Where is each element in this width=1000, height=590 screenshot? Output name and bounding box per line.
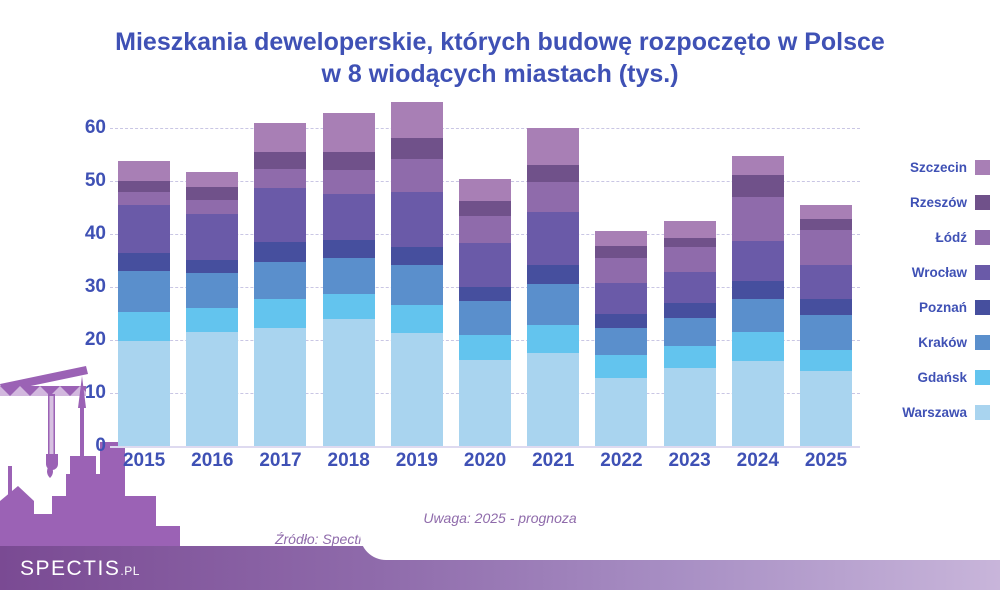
bar-segment-rzeszów-2024[interactable] — [732, 175, 784, 198]
bar-segment-szczecin-2020[interactable] — [459, 179, 511, 201]
axis-baseline — [110, 446, 860, 448]
bar-segment-gdańsk-2022[interactable] — [595, 355, 647, 378]
plot-area — [110, 128, 860, 446]
bar-segment-rzeszów-2018[interactable] — [323, 152, 375, 171]
legend-label-gdańsk: Gdańsk — [917, 370, 967, 385]
legend-label-szczecin: Szczecin — [910, 160, 967, 175]
bar-segment-łódź-2025[interactable] — [800, 230, 852, 264]
legend: SzczecinRzeszówŁódźWrocławPoznańKrakówGd… — [865, 150, 990, 430]
x-tick-2022: 2022 — [587, 450, 655, 472]
bar-segment-rzeszów-2015[interactable] — [118, 181, 170, 192]
bar-segment-szczecin-2022[interactable] — [595, 231, 647, 245]
bar-segment-łódź-2015[interactable] — [118, 192, 170, 205]
bar-segment-wrocław-2017[interactable] — [254, 188, 306, 242]
x-tick-2024: 2024 — [724, 450, 792, 472]
stacked-bar-2020[interactable] — [459, 179, 511, 446]
legend-label-poznań: Poznań — [919, 300, 967, 315]
stacked-bar-2021[interactable] — [527, 128, 579, 446]
legend-item-warszawa[interactable]: Warszawa — [865, 395, 990, 430]
x-tick-2023: 2023 — [656, 450, 724, 472]
bar-segment-wrocław-2018[interactable] — [323, 194, 375, 240]
bar-segment-poznań-2020[interactable] — [459, 287, 511, 301]
bar-slot-2024 — [724, 128, 792, 446]
bar-segment-kraków-2023[interactable] — [664, 318, 716, 347]
bar-segment-poznań-2018[interactable] — [323, 240, 375, 259]
bar-segment-kraków-2019[interactable] — [391, 265, 443, 305]
x-tick-2016: 2016 — [178, 450, 246, 472]
bar-segment-warszawa-2019[interactable] — [391, 333, 443, 446]
title-line-2: w 8 wiodących miastach (tys.) — [0, 58, 1000, 90]
bar-segment-szczecin-2015[interactable] — [118, 161, 170, 181]
bar-segment-gdańsk-2025[interactable] — [800, 350, 852, 371]
bar-slot-2017 — [246, 128, 314, 446]
bar-segment-łódź-2016[interactable] — [186, 200, 238, 215]
y-tick-60: 60 — [60, 117, 106, 139]
bar-segment-szczecin-2023[interactable] — [664, 221, 716, 238]
legend-item-szczecin[interactable]: Szczecin — [865, 150, 990, 185]
legend-swatch-warszawa — [975, 405, 990, 420]
x-tick-2019: 2019 — [383, 450, 451, 472]
bar-segment-warszawa-2017[interactable] — [254, 328, 306, 446]
bar-segment-łódź-2017[interactable] — [254, 169, 306, 188]
legend-swatch-wrocław — [975, 265, 990, 280]
bar-segment-wrocław-2025[interactable] — [800, 265, 852, 299]
legend-label-wrocław: Wrocław — [912, 265, 967, 280]
bar-segment-rzeszów-2017[interactable] — [254, 152, 306, 168]
bar-segment-wrocław-2024[interactable] — [732, 241, 784, 281]
bar-segment-gdańsk-2024[interactable] — [732, 332, 784, 361]
legend-label-kraków: Kraków — [918, 335, 967, 350]
bar-segment-łódź-2020[interactable] — [459, 216, 511, 243]
y-tick-40: 40 — [60, 223, 106, 245]
bar-segment-warszawa-2023[interactable] — [664, 368, 716, 446]
bar-segment-rzeszów-2023[interactable] — [664, 238, 716, 246]
bar-segment-warszawa-2016[interactable] — [186, 332, 238, 446]
bar-segment-wrocław-2015[interactable] — [118, 205, 170, 253]
x-tick-2015: 2015 — [110, 450, 178, 472]
stacked-bar-2016[interactable] — [186, 172, 238, 446]
footer-notch — [360, 534, 1000, 560]
bar-segment-warszawa-2018[interactable] — [323, 319, 375, 446]
bar-segment-szczecin-2019[interactable] — [391, 102, 443, 138]
legend-swatch-łódź — [975, 230, 990, 245]
legend-swatch-szczecin — [975, 160, 990, 175]
bar-slot-2020 — [451, 128, 519, 446]
bar-segment-łódź-2018[interactable] — [323, 170, 375, 194]
bar-slot-2019 — [383, 128, 451, 446]
stacked-bar-2019[interactable] — [391, 102, 443, 446]
bar-slot-2016 — [178, 128, 246, 446]
bar-segment-poznań-2016[interactable] — [186, 260, 238, 273]
bar-segment-wrocław-2023[interactable] — [664, 272, 716, 303]
legend-item-kraków[interactable]: Kraków — [865, 325, 990, 360]
bar-segment-szczecin-2016[interactable] — [186, 172, 238, 188]
bar-segment-poznań-2023[interactable] — [664, 303, 716, 318]
y-tick-50: 50 — [60, 170, 106, 192]
bar-segment-łódź-2019[interactable] — [391, 159, 443, 191]
stacked-bar-2017[interactable] — [254, 123, 306, 446]
bar-segment-szczecin-2017[interactable] — [254, 123, 306, 152]
bar-segment-gdańsk-2020[interactable] — [459, 335, 511, 359]
bar-segment-gdańsk-2018[interactable] — [323, 294, 375, 319]
stacked-bar-2015[interactable] — [118, 161, 170, 446]
bar-segment-poznań-2025[interactable] — [800, 299, 852, 315]
legend-swatch-kraków — [975, 335, 990, 350]
legend-item-gdańsk[interactable]: Gdańsk — [865, 360, 990, 395]
legend-item-poznań[interactable]: Poznań — [865, 290, 990, 325]
bar-segment-poznań-2022[interactable] — [595, 314, 647, 328]
bar-slot-2018 — [315, 128, 383, 446]
legend-label-łódź: Łódź — [936, 230, 968, 245]
stacked-bar-2024[interactable] — [732, 156, 784, 446]
bar-segment-warszawa-2025[interactable] — [800, 371, 852, 446]
bar-segment-poznań-2015[interactable] — [118, 253, 170, 271]
y-tick-0: 0 — [60, 435, 106, 457]
x-tick-2017: 2017 — [246, 450, 314, 472]
bar-slot-2025 — [792, 128, 860, 446]
title-line-1: Mieszkania deweloperskie, których budowę… — [115, 28, 885, 56]
legend-item-łódź[interactable]: Łódź — [865, 220, 990, 255]
bar-segment-kraków-2020[interactable] — [459, 301, 511, 335]
bar-segment-gdańsk-2017[interactable] — [254, 299, 306, 328]
bar-segment-warszawa-2021[interactable] — [527, 353, 579, 446]
bar-segment-warszawa-2024[interactable] — [732, 361, 784, 446]
bar-segment-wrocław-2020[interactable] — [459, 243, 511, 288]
bar-segment-warszawa-2015[interactable] — [118, 341, 170, 446]
bar-segment-warszawa-2022[interactable] — [595, 378, 647, 446]
bar-segment-łódź-2021[interactable] — [527, 182, 579, 212]
x-tick-2020: 2020 — [451, 450, 519, 472]
footer-bar: SPECTIS.PL — [0, 546, 1000, 590]
bar-segment-rzeszów-2020[interactable] — [459, 201, 511, 216]
bar-segment-wrocław-2016[interactable] — [186, 214, 238, 260]
bar-segment-gdańsk-2019[interactable] — [391, 305, 443, 333]
legend-swatch-gdańsk — [975, 370, 990, 385]
stacked-bar-2025[interactable] — [800, 205, 852, 446]
bar-segment-rzeszów-2019[interactable] — [391, 138, 443, 160]
bar-segment-rzeszów-2025[interactable] — [800, 219, 852, 231]
bar-segment-rzeszów-2022[interactable] — [595, 246, 647, 259]
y-tick-10: 10 — [60, 382, 106, 404]
bar-segment-wrocław-2022[interactable] — [595, 283, 647, 314]
bar-segment-szczecin-2024[interactable] — [732, 156, 784, 175]
bar-segment-kraków-2018[interactable] — [323, 258, 375, 294]
page-title: Mieszkania deweloperskie, których budowę… — [0, 26, 1000, 90]
x-tick-2025: 2025 — [792, 450, 860, 472]
bar-segment-rzeszów-2021[interactable] — [527, 165, 579, 182]
bar-segment-łódź-2024[interactable] — [732, 197, 784, 241]
logo-name: SPECTIS — [20, 557, 120, 580]
bar-slot-2021 — [519, 128, 587, 446]
legend-label-rzeszów: Rzeszów — [910, 195, 967, 210]
y-tick-30: 30 — [60, 276, 106, 298]
bar-segment-kraków-2021[interactable] — [527, 284, 579, 324]
bar-segment-kraków-2017[interactable] — [254, 262, 306, 299]
bar-segment-kraków-2016[interactable] — [186, 273, 238, 309]
bar-segment-rzeszów-2016[interactable] — [186, 187, 238, 199]
y-axis-labels: 0102030405060 — [60, 110, 106, 470]
bar-segment-poznań-2019[interactable] — [391, 247, 443, 264]
y-tick-20: 20 — [60, 329, 106, 351]
bar-slot-2015 — [110, 128, 178, 446]
bar-segment-kraków-2025[interactable] — [800, 315, 852, 350]
bar-segment-kraków-2022[interactable] — [595, 328, 647, 356]
bar-segment-szczecin-2025[interactable] — [800, 205, 852, 218]
logo-suffix: .PL — [120, 564, 140, 578]
bar-segment-łódź-2023[interactable] — [664, 247, 716, 272]
bar-slot-2022 — [587, 128, 655, 446]
bar-segment-poznań-2024[interactable] — [732, 281, 784, 298]
note-forecast: Uwaga: 2025 - prognoza — [0, 508, 1000, 529]
bar-segment-kraków-2024[interactable] — [732, 299, 784, 332]
bar-slot-2023 — [656, 128, 724, 446]
bar-segment-wrocław-2019[interactable] — [391, 192, 443, 248]
legend-label-warszawa: Warszawa — [902, 405, 967, 420]
x-tick-2021: 2021 — [519, 450, 587, 472]
legend-swatch-rzeszów — [975, 195, 990, 210]
legend-swatch-poznań — [975, 300, 990, 315]
bar-segment-gdańsk-2023[interactable] — [664, 346, 716, 367]
bar-segment-poznań-2017[interactable] — [254, 242, 306, 262]
x-tick-2018: 2018 — [315, 450, 383, 472]
bar-group — [110, 128, 860, 446]
x-axis-labels: 2015201620172018201920202021202220232024… — [110, 450, 860, 472]
stacked-bar-2022[interactable] — [595, 231, 647, 446]
bar-segment-gdańsk-2021[interactable] — [527, 325, 579, 354]
bar-segment-gdańsk-2016[interactable] — [186, 308, 238, 331]
stacked-bar-2023[interactable] — [664, 221, 716, 446]
spectis-logo: SPECTIS.PL — [20, 557, 140, 581]
legend-item-wrocław[interactable]: Wrocław — [865, 255, 990, 290]
bar-segment-kraków-2015[interactable] — [118, 271, 170, 312]
legend-item-rzeszów[interactable]: Rzeszów — [865, 185, 990, 220]
bar-segment-łódź-2022[interactable] — [595, 258, 647, 282]
bar-segment-poznań-2021[interactable] — [527, 265, 579, 284]
bar-segment-szczecin-2021[interactable] — [527, 128, 579, 166]
bar-segment-warszawa-2020[interactable] — [459, 360, 511, 446]
bar-segment-szczecin-2018[interactable] — [323, 113, 375, 152]
bar-segment-wrocław-2021[interactable] — [527, 212, 579, 266]
chart-page: Mieszkania deweloperskie, których budowę… — [0, 0, 1000, 590]
stacked-bar-2018[interactable] — [323, 113, 375, 446]
bar-segment-gdańsk-2015[interactable] — [118, 312, 170, 341]
